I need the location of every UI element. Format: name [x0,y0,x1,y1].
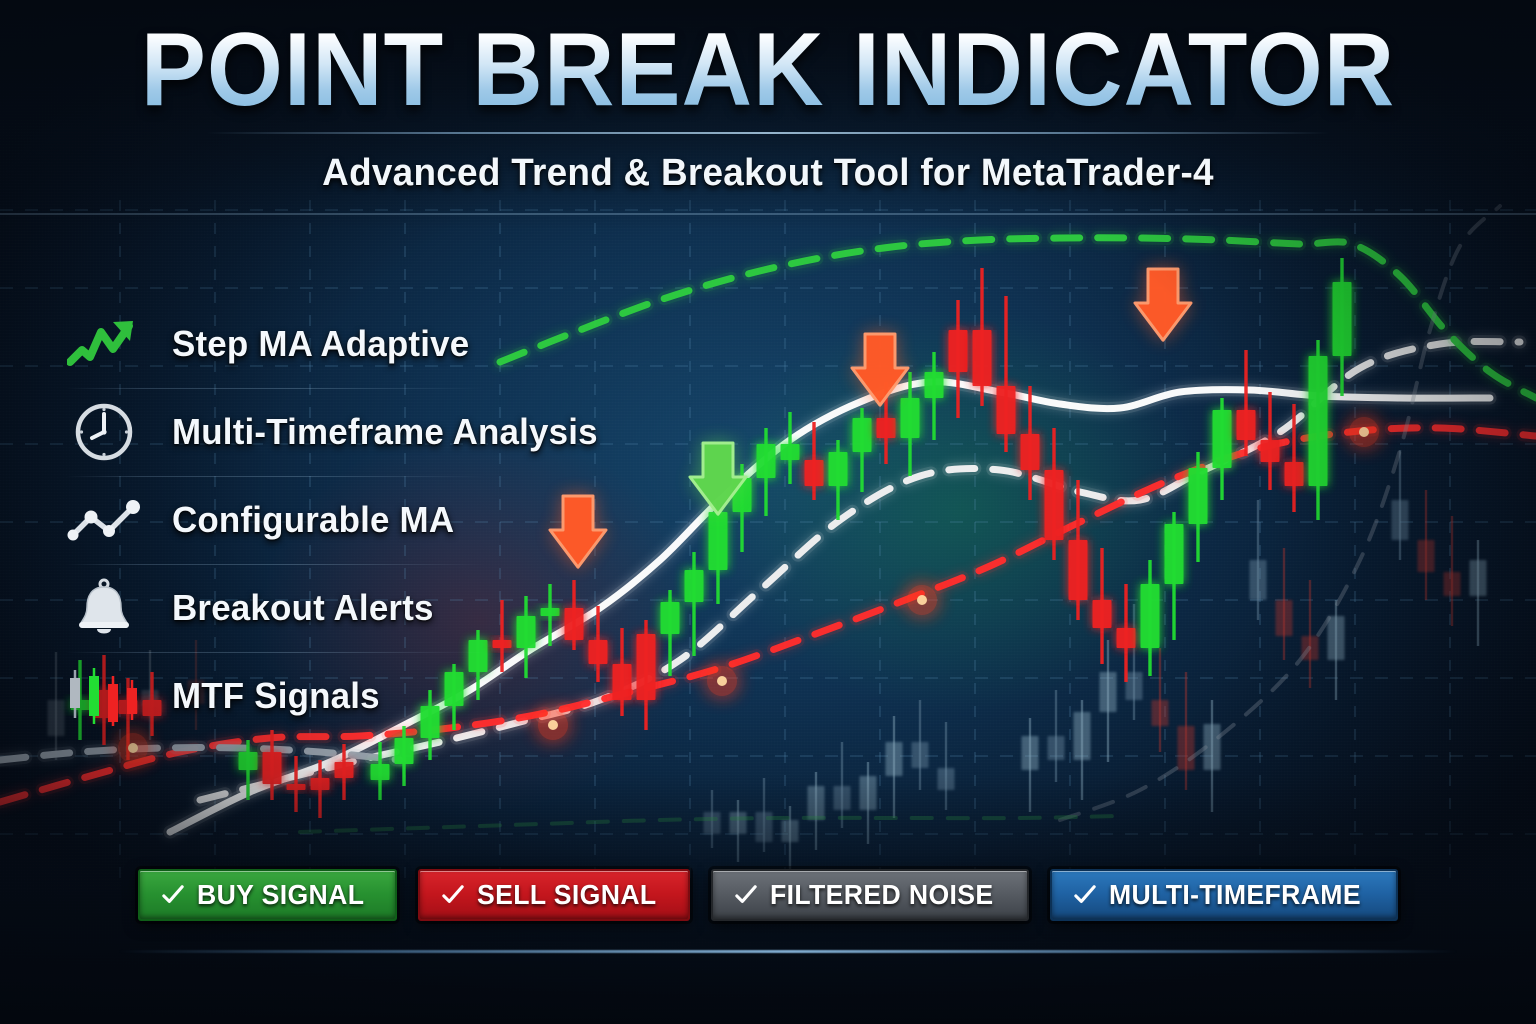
badge-label: BUY SIGNAL [197,879,364,911]
title-divider [207,132,1329,134]
feature-item-label: Breakout Alerts [172,587,434,629]
feature-item-multi-timeframe-analysis: Multi-Timeframe Analysis [58,388,558,476]
feature-item-label: Multi-Timeframe Analysis [172,411,598,453]
feature-item-configurable-ma: Configurable MA [58,476,558,564]
badge-multi-timeframe[interactable]: MULTI-TIMEFRAME [1050,869,1398,921]
clock-icon [58,395,150,469]
badge-label: SELL SIGNAL [477,879,657,911]
check-icon [735,884,757,906]
badge-label: FILTERED NOISE [770,879,994,911]
trending-up-arrow-icon [58,307,150,381]
badge-sell-signal[interactable]: SELL SIGNAL [418,869,690,921]
bell-icon [58,571,150,645]
poster-canvas: POINT BREAK INDICATOR Advanced Trend & B… [0,0,1536,1024]
check-icon [1074,884,1096,906]
feature-item-label: Configurable MA [172,499,454,541]
check-icon [162,884,184,906]
page-title: POINT BREAK INDICATOR [46,0,1490,122]
feature-item-step-ma-adaptive: Step MA Adaptive [58,300,558,388]
poster-header: POINT BREAK INDICATOR Advanced Trend & B… [0,0,1536,195]
badge-label: MULTI-TIMEFRAME [1109,879,1361,911]
feature-item-label: MTF Signals [172,675,380,717]
badge-buy-signal[interactable]: BUY SIGNAL [138,869,397,921]
feature-item-breakout-alerts: Breakout Alerts [58,564,558,652]
feature-item-label: Step MA Adaptive [172,323,469,365]
check-icon [442,884,464,906]
feature-item-mtf-signals: MTF Signals [58,652,558,740]
badge-filtered-noise[interactable]: FILTERED NOISE [711,869,1029,921]
candlestick-group-icon [58,659,150,733]
page-subtitle: Advanced Trend & Breakout Tool for MetaT… [23,152,1513,195]
signal-badge-row: BUY SIGNALSELL SIGNALFILTERED NOISEMULTI… [0,869,1536,921]
feature-list: Step MA Adaptive Multi-Timeframe Analysi… [58,300,558,740]
line-chart-nodes-icon [58,483,150,557]
bottom-divider [118,950,1458,953]
